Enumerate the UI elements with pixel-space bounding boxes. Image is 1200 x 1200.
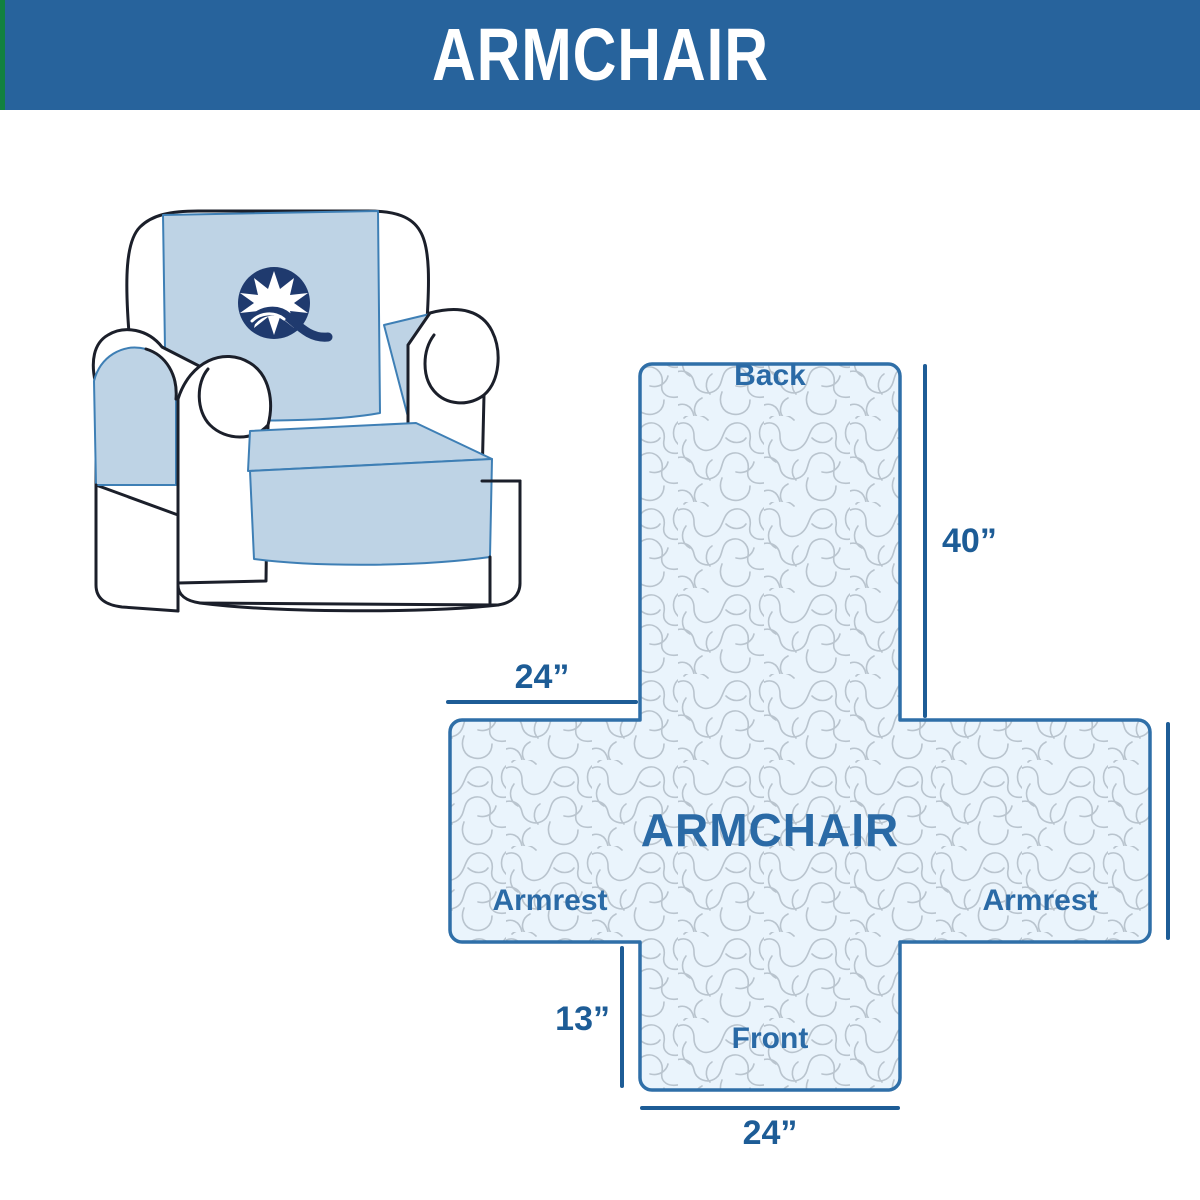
page-title: ARMCHAIR: [432, 18, 769, 92]
cover-shape: [440, 364, 1150, 1090]
panel-label-center: ARMCHAIR: [641, 804, 899, 856]
dimension-label-back-width: 24”: [515, 658, 570, 696]
cover-outline: [450, 364, 1150, 1090]
dimension-front-width: 24”: [642, 1108, 898, 1150]
dimension-label-front-width: 24”: [743, 1114, 798, 1150]
dimension-front-height: 13”: [555, 948, 622, 1086]
panel-label-armrest-right: Armrest: [982, 884, 1097, 917]
header-accent-stripe: [0, 0, 5, 110]
size-chart-page: ARMCHAIR: [0, 0, 1200, 1200]
dimension-back-height: 40”: [925, 366, 997, 716]
dimension-seat-depth: 23”: [1168, 724, 1180, 938]
header-banner: ARMCHAIR: [0, 0, 1200, 110]
panel-label-back: Back: [734, 359, 806, 392]
dimension-label-back-height: 40”: [942, 522, 997, 560]
panel-label-front: Front: [732, 1022, 809, 1055]
panel-label-armrest-left: Armrest: [492, 884, 607, 917]
dimension-label-front-height: 13”: [555, 1000, 610, 1038]
dimension-back-width: 24”: [448, 658, 636, 702]
cover-layout-diagram: Back ARMCHAIR Armrest Armrest Front 40” …: [420, 330, 1180, 1150]
